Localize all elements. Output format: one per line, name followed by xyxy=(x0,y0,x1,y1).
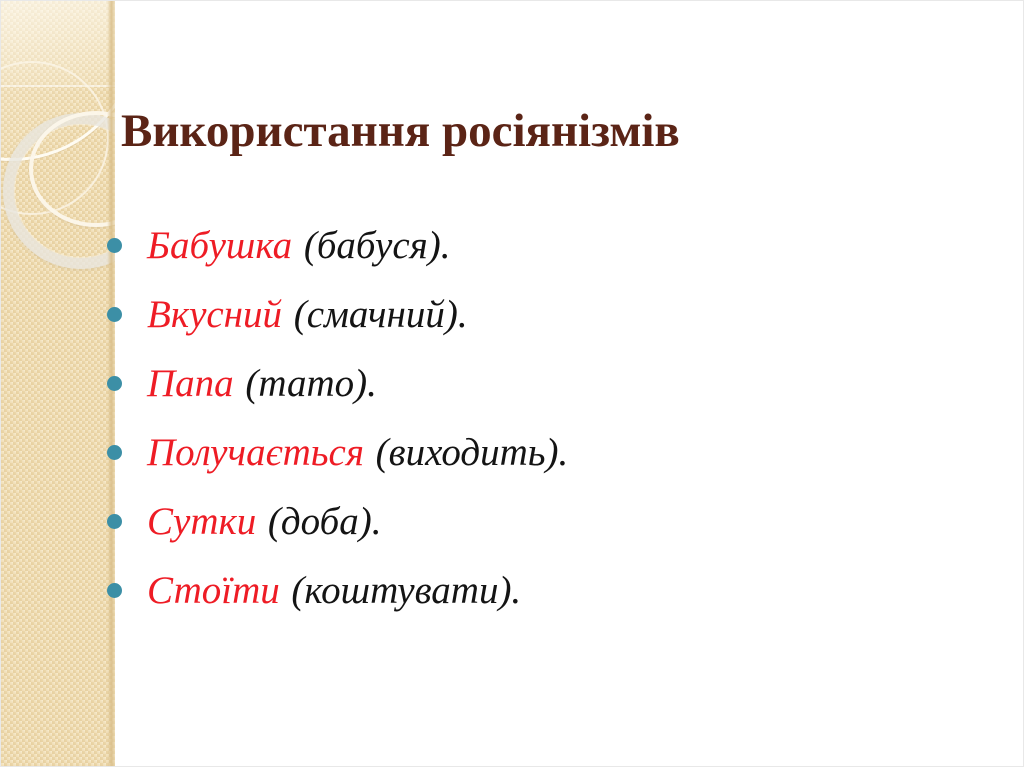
list-item-gloss: (доба). xyxy=(268,487,382,556)
list-item-term: Сутки xyxy=(147,487,256,556)
list-item: Получається (виходить). xyxy=(101,418,981,487)
presentation-slide: Використання росіянізмів Бабушка (бабуся… xyxy=(0,0,1024,767)
bullet-list: Бабушка (бабуся). Вкусний (смачний). Пап… xyxy=(101,211,981,625)
list-item-term: Стоїти xyxy=(147,556,280,625)
list-item-term: Бабушка xyxy=(147,211,292,280)
list-item-gloss: (бабуся). xyxy=(304,211,451,280)
bullet-dot-icon xyxy=(107,583,122,598)
list-item: Папа (тато). xyxy=(101,349,981,418)
list-item-gloss: (виходить). xyxy=(376,418,569,487)
list-item-term: Вкусний xyxy=(147,280,282,349)
bullet-dot-icon xyxy=(107,445,122,460)
bullet-dot-icon xyxy=(107,514,122,529)
list-item-term: Получається xyxy=(147,418,364,487)
list-item-gloss: (смачний). xyxy=(294,280,468,349)
list-item: Бабушка (бабуся). xyxy=(101,211,981,280)
bullet-dot-icon xyxy=(107,376,122,391)
list-item-gloss: (тато). xyxy=(245,349,377,418)
list-item: Вкусний (смачний). xyxy=(101,280,981,349)
bullet-dot-icon xyxy=(107,238,122,253)
list-item: Стоїти (коштувати). xyxy=(101,556,981,625)
list-item-gloss: (коштувати). xyxy=(291,556,521,625)
list-item: Сутки (доба). xyxy=(101,487,981,556)
sidebar-texture-pattern xyxy=(1,1,115,767)
bullet-dot-icon xyxy=(107,307,122,322)
decorative-sidebar xyxy=(1,1,115,767)
list-item-term: Папа xyxy=(147,349,234,418)
slide-title: Використання росіянізмів xyxy=(121,104,981,158)
